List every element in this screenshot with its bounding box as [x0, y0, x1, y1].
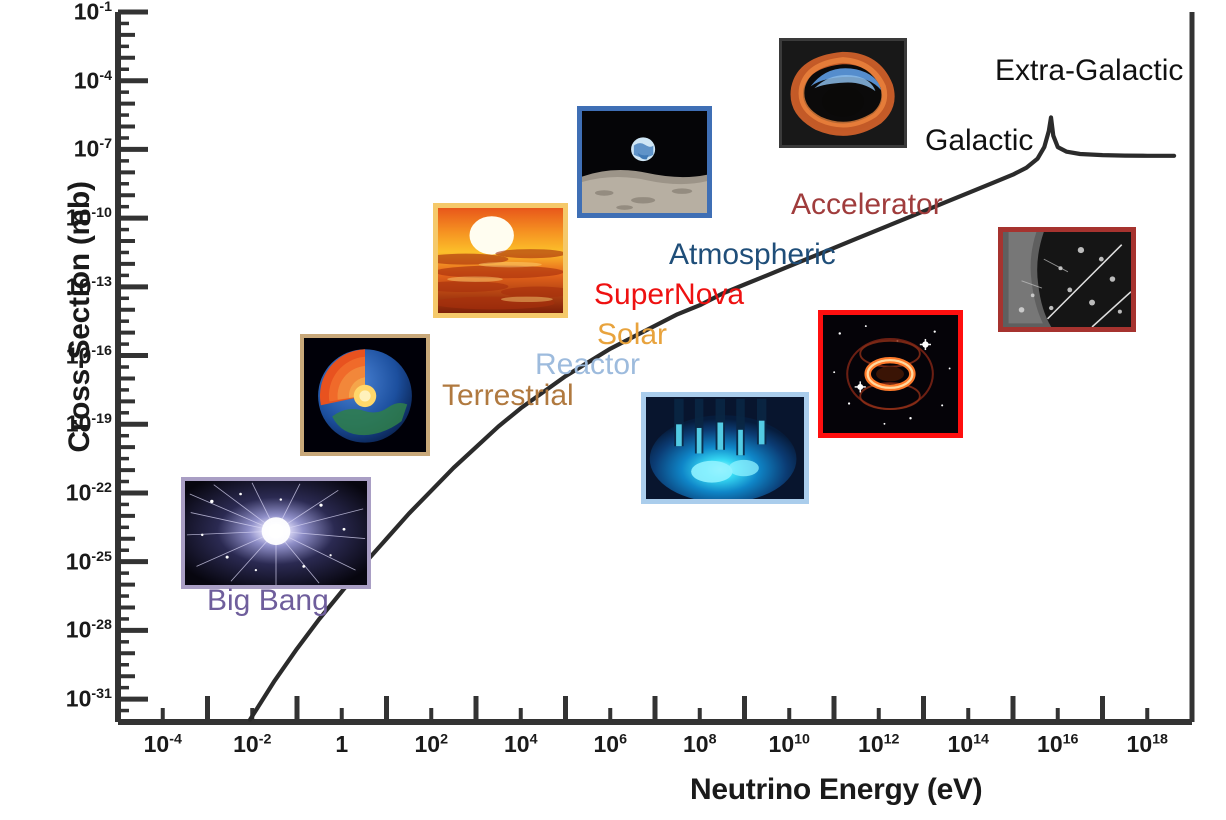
earthrise-icon: [582, 111, 707, 213]
x-tick-label: 1018: [1127, 731, 1168, 758]
supernova-image: [818, 310, 963, 438]
annotation-terrestrial: Terrestrial: [442, 379, 574, 413]
x-tick-label: 102: [414, 731, 448, 758]
x-tick-label: 104: [504, 731, 538, 758]
sunset-icon: [438, 208, 563, 313]
galactic-image: [779, 38, 907, 148]
annotation-accelerator: Accelerator: [791, 188, 943, 222]
annotation-reactor: Reactor: [535, 348, 640, 382]
neutrino-cross-section-figure: Cross-Section (mb) Neutrino Energy (eV) …: [0, 0, 1226, 820]
annotation-galactic: Galactic: [925, 124, 1033, 158]
x-tick-label: 1012: [858, 731, 899, 758]
annotation-atmospheric: Atmospheric: [669, 238, 836, 272]
x-tick-label: 1016: [1037, 731, 1078, 758]
terrestrial-image: [300, 334, 430, 456]
x-tick-label: 1010: [769, 731, 810, 758]
accelerator-image: [998, 227, 1136, 332]
x-tick-label: 1: [335, 731, 348, 758]
big-bang-image: [181, 477, 371, 589]
x-tick-label: 108: [683, 731, 717, 758]
x-tick-label: 1014: [948, 731, 989, 758]
solar-image: [433, 203, 568, 318]
annotation-supernova: SuperNova: [594, 278, 744, 312]
earth-cutaway-icon: [304, 338, 426, 452]
supernova-1987a-icon: [823, 315, 958, 433]
x-tick-label: 10-4: [144, 731, 182, 758]
big-bang-starburst-icon: [185, 481, 367, 585]
bubble-chamber-icon: [1003, 232, 1131, 327]
cherenkov-glow-icon: [646, 397, 804, 499]
reactor-image: [641, 392, 809, 504]
x-tick-label: 106: [593, 731, 627, 758]
x-tick-label: 10-2: [233, 731, 271, 758]
annotation-big-bang: Big Bang: [207, 584, 329, 618]
annotation-extra-galactic: Extra-Galactic: [995, 54, 1183, 88]
atmospheric-image: [577, 106, 712, 218]
supernova-remnant-icon: [782, 41, 904, 145]
annotation-solar: Solar: [597, 318, 667, 352]
